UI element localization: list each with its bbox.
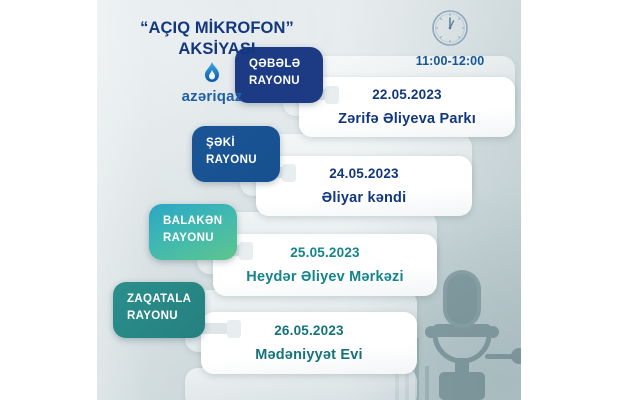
event-place: Əliyar kəndi [322,190,407,206]
event-place: Mədəniyyət Evi [255,347,363,363]
time-range-label: 11:00-12:00 [410,54,490,68]
flame-icon [202,62,222,86]
event-date: 25.05.2023 [290,245,360,260]
district-name: BALAKƏN [163,215,222,227]
district-badge-zaqatala[interactable]: ZAQATALA RAYONU [113,282,205,338]
district-badge-balaken[interactable]: BALAKƏN RAYONU [149,204,237,260]
connector-icon-4 [197,320,261,342]
screenshot-canvas: “AÇIQ MİKROFON” AKSİYASI azəriqaz [0,0,637,400]
event-date: 26.05.2023 [274,323,344,338]
event-place: Zərifə Əliyeva Parkı [338,111,476,127]
event-time: 11:00-12:00 [410,8,490,68]
district-name: ŞƏKİ [206,137,235,149]
clock-icon [410,8,490,48]
page-title: “AÇIQ MİKROFON” AKSİYASI [97,18,337,60]
event-date: 22.05.2023 [372,87,442,102]
event-poster: “AÇIQ MİKROFON” AKSİYASI azəriqaz [97,0,521,400]
district-label: RAYONU [127,310,178,322]
district-label: RAYONU [163,232,214,244]
azeriqaz-logo: azəriqaz [152,62,272,106]
district-label: RAYONU [206,154,257,166]
district-name: ZAQATALA [127,293,191,305]
brand-name: azəriqaz [182,88,243,105]
event-date: 24.05.2023 [329,166,399,181]
district-badge-seki[interactable]: ŞƏKİ RAYONU [192,126,280,182]
event-place: Heydər Əliyev Mərkəzi [246,269,403,285]
